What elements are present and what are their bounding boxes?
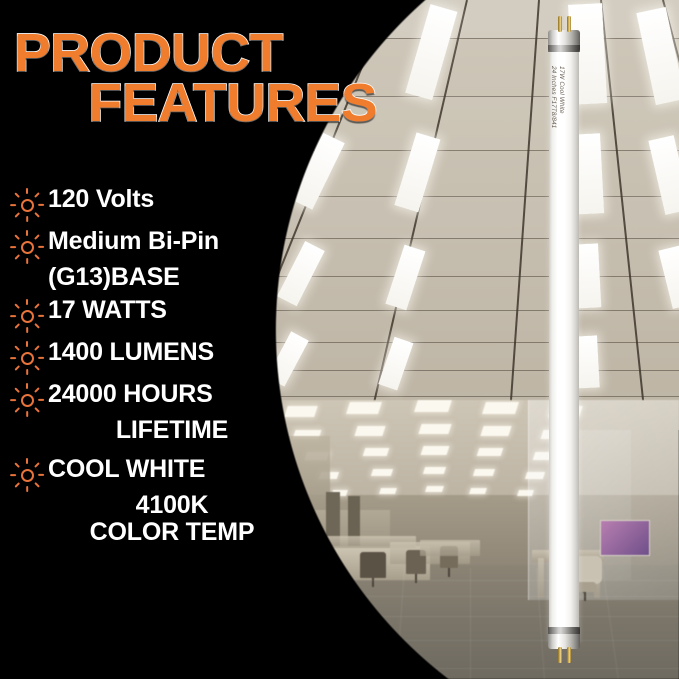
feature-list: 120 Volts M [10, 186, 340, 552]
feature-label: 120 Volts [48, 186, 154, 212]
sun-brightness-icon [10, 188, 44, 222]
list-item: COOL WHITE 4100K COLOR TEMP [10, 456, 340, 546]
list-item: Medium Bi-Pin (G13)BASE [10, 228, 340, 291]
feature-label-continuation: 4100K [22, 492, 322, 519]
product-features-infographic: 24 Inches F17T8/841 17W Cool White PRODU… [0, 0, 679, 679]
sun-brightness-icon [10, 458, 44, 492]
feature-label: 1400 LUMENS [48, 339, 214, 365]
feature-label: COOL WHITE [48, 456, 205, 482]
list-item: 24000 HOURS LIFETIME [10, 381, 340, 444]
feature-label-continuation: (G13)BASE [48, 264, 348, 291]
list-item: 17 WATTS [10, 297, 340, 333]
page-title: PRODUCT FEATURES [14, 28, 374, 128]
feature-label-continuation: COLOR TEMP [22, 519, 322, 546]
title-line-2: FEATURES [14, 78, 381, 128]
list-item: 120 Volts [10, 186, 340, 222]
feature-label: 24000 HOURS [48, 381, 213, 407]
sun-brightness-icon [10, 299, 44, 333]
feature-label: 17 WATTS [48, 297, 167, 323]
list-item: 1400 LUMENS [10, 339, 340, 375]
sun-brightness-icon [10, 230, 44, 264]
sun-brightness-icon [10, 341, 44, 375]
title-line-1: PRODUCT [14, 28, 381, 78]
sun-brightness-icon [10, 383, 44, 417]
feature-label-continuation: LIFETIME [22, 417, 322, 444]
feature-label: Medium Bi-Pin [48, 228, 219, 254]
